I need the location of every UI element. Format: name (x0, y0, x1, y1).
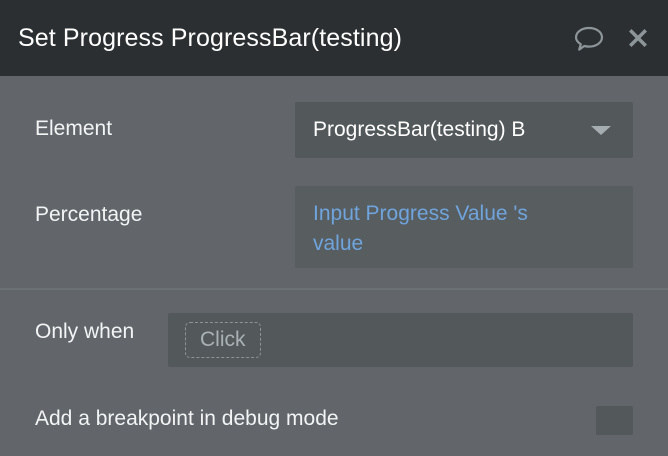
dialog-header-actions (572, 0, 654, 76)
breakpoint-label: Add a breakpoint in debug mode (35, 407, 339, 431)
element-row: Element ProgressBar(testing) B (0, 76, 668, 174)
percentage-label: Percentage (35, 203, 142, 227)
breakpoint-row: Add a breakpoint in debug mode (0, 380, 668, 456)
percentage-expression-value: Input Progress Value 's value (313, 199, 573, 259)
close-icon[interactable] (622, 22, 654, 54)
breakpoint-checkbox[interactable] (596, 406, 633, 435)
only-when-input[interactable]: Click (168, 313, 633, 367)
only-when-label: Only when (35, 320, 134, 344)
element-label: Element (35, 117, 112, 141)
element-dropdown[interactable]: ProgressBar(testing) B (295, 102, 633, 158)
only-when-row: Only when Click (0, 290, 668, 380)
set-progress-action-dialog: Set Progress ProgressBar(testing) Elemen… (0, 0, 668, 456)
element-dropdown-value: ProgressBar(testing) B (313, 102, 593, 158)
only-when-placeholder-chip[interactable]: Click (185, 322, 261, 358)
comment-icon[interactable] (572, 21, 606, 55)
dialog-title: Set Progress ProgressBar(testing) (18, 0, 442, 76)
percentage-row: Percentage Input Progress Value 's value (0, 174, 668, 288)
percentage-input[interactable]: Input Progress Value 's value (295, 186, 633, 268)
dialog-header: Set Progress ProgressBar(testing) (0, 0, 668, 76)
chevron-down-icon (591, 126, 611, 135)
